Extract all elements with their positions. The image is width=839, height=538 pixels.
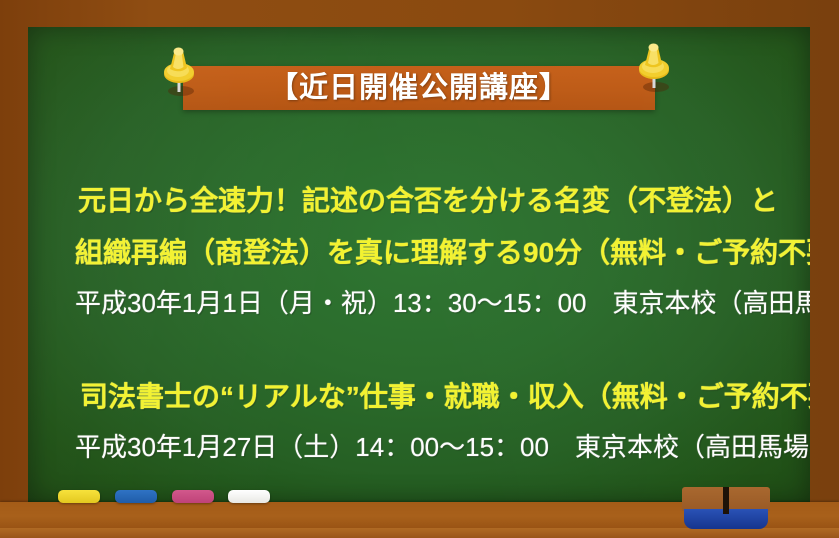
- eraser-split: [723, 487, 729, 514]
- chalk-pink: [172, 490, 214, 503]
- title-banner-group: 【近日開催公開講座】: [183, 66, 655, 110]
- chalk-yellow: [58, 490, 100, 503]
- page-title: 【近日開催公開講座】: [269, 74, 569, 103]
- chalkboard-frame: 【近日開催公開講座】: [0, 0, 839, 538]
- chalk-tray-lip: [0, 528, 839, 538]
- chalk-white: [228, 490, 270, 503]
- blackboard-eraser: [682, 487, 770, 529]
- title-banner: 【近日開催公開講座】: [183, 66, 655, 110]
- seminar-2-headline-line-1: 司法書士の“リアルな”仕事・就職・収入（無料・ご予約不要）: [80, 383, 810, 411]
- chalkboard-surface: 【近日開催公開講座】: [28, 27, 810, 503]
- seminar-2-details: 平成30年1月27日（土）14：00〜15：00 東京本校（高田馬場）: [75, 434, 810, 460]
- seminar-1-headline-line-1: 元日から全速力！記述の合否を分ける名変（不登法）と: [78, 187, 778, 215]
- seminar-1-details: 平成30年1月1日（月・祝）13：30〜15：00 東京本校（高田馬場）: [75, 290, 810, 316]
- seminar-1-headline-line-2: 組織再編（商登法）を真に理解する90分（無料・ご予約不要）: [75, 239, 810, 267]
- chalk-blue: [115, 490, 157, 503]
